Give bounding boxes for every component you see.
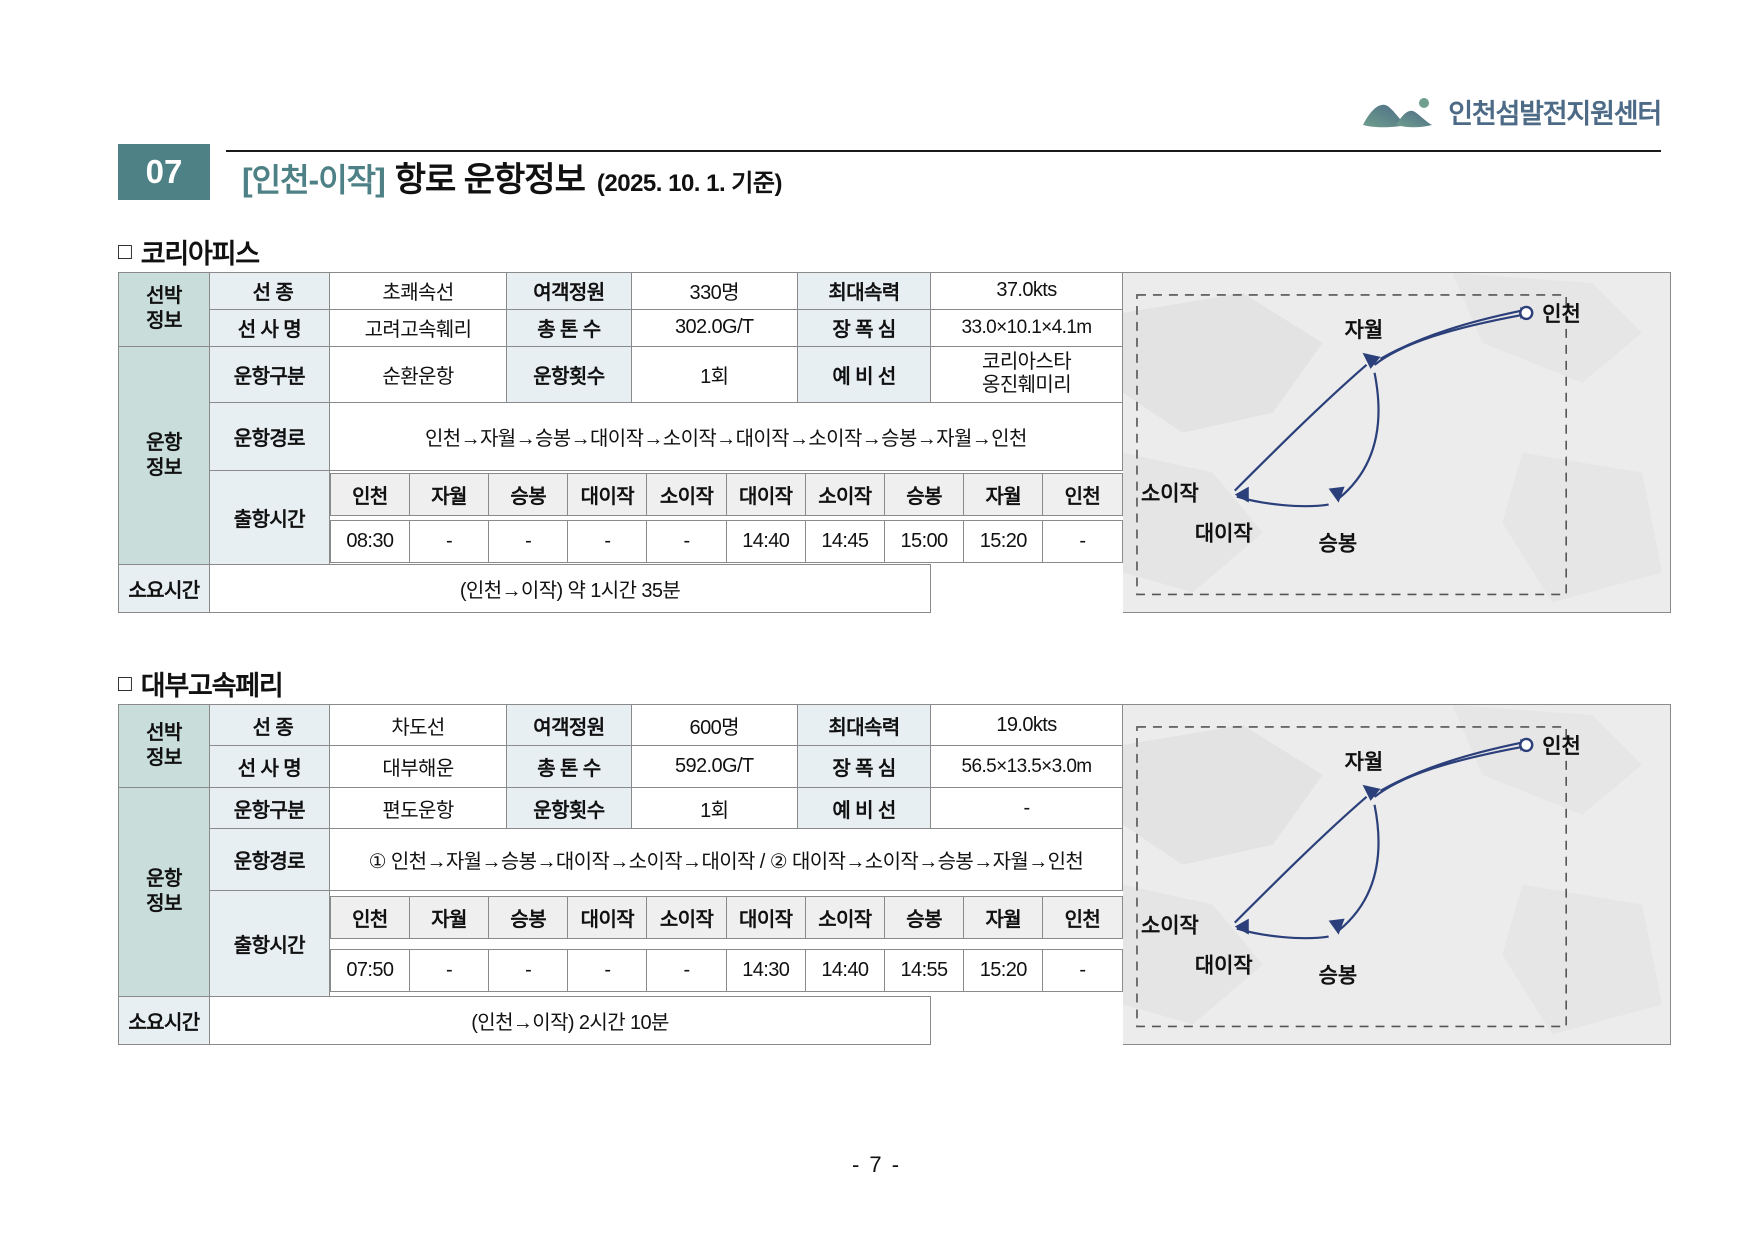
ops-info-side-label: 운항정보 <box>119 787 210 997</box>
tonnage-value: 592.0G/T <box>631 746 797 787</box>
reserve-ship-line1: 코리아스타 <box>982 351 1071 373</box>
map-label-incheon: 인천 <box>1542 303 1581 326</box>
ship-type-label: 선 종 <box>209 705 329 746</box>
schedule-port-header: 인천 <box>330 473 409 515</box>
schedule-port-header: 인천 <box>1043 473 1122 515</box>
schedule-departure-time: 08:30 <box>330 520 409 562</box>
table-row: 운항정보 운항구분 편도운항 운항횟수 1회 예 비 선 - <box>119 787 1123 828</box>
ops-type-label: 운항구분 <box>209 787 329 828</box>
section-heading-koreapeace: □ 코리아피스 <box>118 232 259 271</box>
schedule-port-header: 대이작 <box>726 473 805 515</box>
schedule-port-header: 승봉 <box>884 897 963 939</box>
duration-value: (인천→이작) 약 1시간 35분 <box>209 565 930 613</box>
page-number: - 7 - <box>0 1152 1753 1178</box>
capacity-label: 여객정원 <box>507 705 631 746</box>
capacity-value: 600명 <box>631 705 797 746</box>
company-label: 선 사 명 <box>209 309 329 346</box>
table-row: 운항경로 인천→자월→승봉→대이작→소이작→대이작→소이작→승봉→자월→인천 <box>119 403 1123 471</box>
mountain-wave-icon <box>1362 95 1436 129</box>
schedule-port-header: 자월 <box>964 473 1043 515</box>
reserve-ship-value: 코리아스타 옹진훼미리 <box>931 346 1123 403</box>
page-title: [인천-이작] 항로 운항정보 (2025. 10. 1. 기준) <box>242 152 782 201</box>
max-speed-label: 최대속력 <box>797 273 930 310</box>
operator-block-daebu: 선박정보 선 종 차도선 여객정원 600명 최대속력 19.0kts 선 사 … <box>118 704 1671 1045</box>
schedule-port-header: 소이작 <box>647 473 726 515</box>
ops-count-value: 1회 <box>631 346 797 403</box>
dimensions-value: 56.5×13.5×3.0m <box>931 746 1123 787</box>
route-path-label: 운항경로 <box>209 829 329 891</box>
schedule-departure-time: 14:40 <box>726 520 805 562</box>
route-map-daebu: 인천 자월 소이작 대이작 승봉 <box>1123 704 1671 1045</box>
schedule-port-header: 자월 <box>409 473 488 515</box>
schedule-times-row: 08:30----14:4014:4515:0015:20- <box>330 520 1122 562</box>
max-speed-label: 최대속력 <box>797 705 930 746</box>
reserve-ship-label: 예 비 선 <box>797 787 930 828</box>
table-row: 선 사 명 대부해운 총 톤 수 592.0G/T 장 폭 심 56.5×13.… <box>119 746 1123 787</box>
schedule-departure-time: - <box>1043 949 1122 991</box>
map-label-daeijak: 대이작 <box>1195 523 1253 546</box>
reserve-ship-value: - <box>931 787 1123 828</box>
departure-time-label: 출항시간 <box>209 891 329 997</box>
departure-time-label: 출항시간 <box>209 471 329 565</box>
table-row: 선박정보 선 종 초쾌속선 여객정원 330명 최대속력 37.0kts <box>119 273 1123 310</box>
company-value: 고려고속훼리 <box>329 309 507 346</box>
route-map-svg: 인천 자월 소이작 대이작 승봉 <box>1123 705 1670 1044</box>
duration-value: (인천→이작) 2시간 10분 <box>209 997 930 1045</box>
schedule-departure-time: 07:50 <box>330 949 409 991</box>
table-row: 선박정보 선 종 차도선 여객정원 600명 최대속력 19.0kts <box>119 705 1123 746</box>
ops-type-label: 운항구분 <box>209 346 329 403</box>
schedule-departure-time: 15:20 <box>964 949 1043 991</box>
reserve-ship-label: 예 비 선 <box>797 346 930 403</box>
schedule-departure-time: 15:20 <box>964 520 1043 562</box>
ship-type-value: 초쾌속선 <box>329 273 507 310</box>
schedule-port-header: 자월 <box>964 897 1043 939</box>
schedule-ports-row: 인천자월승봉대이작소이작대이작소이작승봉자월인천 <box>330 897 1122 939</box>
ops-count-label: 운항횟수 <box>507 346 631 403</box>
table-row: 소요시간 (인천→이작) 약 1시간 35분 <box>119 565 1123 613</box>
dimensions-value: 33.0×10.1×4.1m <box>931 309 1123 346</box>
page-title-bar: 07 [인천-이작] 항로 운항정보 (2025. 10. 1. 기준) <box>118 150 1661 200</box>
brand-logo: 인천섬발전지원센터 <box>1362 92 1661 131</box>
section-number-badge: 07 <box>118 144 210 200</box>
schedule-departure-time: - <box>489 949 568 991</box>
schedule-port-header: 자월 <box>409 897 488 939</box>
ops-count-value: 1회 <box>631 787 797 828</box>
max-speed-value: 37.0kts <box>931 273 1123 310</box>
port-marker-incheon <box>1520 307 1532 319</box>
schedule-departure-time: - <box>647 520 726 562</box>
schedule-departure-time: - <box>489 520 568 562</box>
schedule-port-header: 소이작 <box>805 897 884 939</box>
duration-label: 소요시간 <box>119 997 210 1045</box>
schedule-port-header: 대이작 <box>568 897 647 939</box>
schedule-departure-time: - <box>568 520 647 562</box>
schedule-header-table: 인천자월승봉대이작소이작대이작소이작승봉자월인천 <box>330 896 1123 939</box>
schedule-departure-time: - <box>409 949 488 991</box>
ship-type-label: 선 종 <box>209 273 329 310</box>
schedule-header-row: 인천자월승봉대이작소이작대이작소이작승봉자월인천 <box>330 473 1123 516</box>
table-row: 선 사 명 고려고속훼리 총 톤 수 302.0G/T 장 폭 심 33.0×1… <box>119 309 1123 346</box>
duration-label: 소요시간 <box>119 565 210 613</box>
table-row: 운항정보 운항구분 순환운항 운항횟수 1회 예 비 선 코리아스타 옹진훼미리 <box>119 346 1123 403</box>
schedule-departure-time: 14:45 <box>805 520 884 562</box>
operator-block-koreapeace: 선박정보 선 종 초쾌속선 여객정원 330명 최대속력 37.0kts 선 사… <box>118 272 1671 613</box>
schedule-times-table: 08:30----14:4014:4515:0015:20- <box>330 520 1123 563</box>
map-label-jawol: 자월 <box>1345 751 1384 774</box>
map-label-daeijak: 대이작 <box>1195 955 1253 978</box>
port-marker-incheon <box>1520 739 1532 751</box>
schedule-port-header: 인천 <box>1043 897 1122 939</box>
schedule-departure-time: - <box>647 949 726 991</box>
company-value: 대부해운 <box>329 746 507 787</box>
section-heading-daebu: □ 대부고속페리 <box>118 664 283 703</box>
schedule-port-header: 승봉 <box>884 473 963 515</box>
section-heading-label: 대부고속페리 <box>141 664 283 703</box>
ops-type-value: 순환운항 <box>329 346 507 403</box>
route-path-value: 인천→자월→승봉→대이작→소이작→대이작→소이작→승봉→자월→인천 <box>329 403 1122 471</box>
dimensions-label: 장 폭 심 <box>797 746 930 787</box>
info-table-daebu: 선박정보 선 종 차도선 여객정원 600명 최대속력 19.0kts 선 사 … <box>118 704 1123 1045</box>
title-route-label: [인천-이작] <box>242 155 385 201</box>
table-row: 운항경로 ① 인천→자월→승봉→대이작→소이작→대이작 / ② 대이작→소이작→… <box>119 829 1123 891</box>
map-label-incheon: 인천 <box>1542 735 1581 758</box>
schedule-port-header: 승봉 <box>489 473 568 515</box>
schedule-departure-time: 14:30 <box>726 949 805 991</box>
schedule-port-header: 승봉 <box>489 897 568 939</box>
map-label-jawol: 자월 <box>1345 319 1384 342</box>
table-row: 출항시간 인천자월승봉대이작소이작대이작소이작승봉자월인천 <box>119 891 1123 944</box>
title-date-label: (2025. 10. 1. 기준) <box>597 163 782 198</box>
map-label-soijak: 소이작 <box>1141 915 1199 938</box>
tonnage-label: 총 톤 수 <box>507 309 631 346</box>
ship-info-side-label: 선박정보 <box>119 705 210 788</box>
bullet-square-icon: □ <box>118 238 131 265</box>
schedule-port-header: 대이작 <box>568 473 647 515</box>
route-path-label: 운항경로 <box>209 403 329 471</box>
ops-type-value: 편도운항 <box>329 787 507 828</box>
route-map-svg: 인천 자월 소이작 대이작 승봉 <box>1123 273 1670 612</box>
ops-count-label: 운항횟수 <box>507 787 631 828</box>
tonnage-label: 총 톤 수 <box>507 746 631 787</box>
tonnage-value: 302.0G/T <box>631 309 797 346</box>
schedule-departure-time: 14:55 <box>884 949 963 991</box>
route-map-koreapeace: 인천 자월 소이작 대이작 승봉 <box>1123 272 1671 613</box>
schedule-port-header: 인천 <box>330 897 409 939</box>
map-label-seungbong: 승봉 <box>1319 532 1358 555</box>
reserve-ship-line2: 옹진훼미리 <box>982 374 1071 396</box>
section-heading-label: 코리아피스 <box>141 232 259 271</box>
brand-name: 인천섬발전지원센터 <box>1448 92 1661 131</box>
map-label-soijak: 소이작 <box>1141 483 1199 506</box>
schedule-departure-time: - <box>409 520 488 562</box>
max-speed-value: 19.0kts <box>931 705 1123 746</box>
dimensions-label: 장 폭 심 <box>797 309 930 346</box>
schedule-departure-time: - <box>1043 520 1122 562</box>
ops-info-side-label: 운항정보 <box>119 346 210 565</box>
title-main-label: 항로 운항정보 <box>395 152 585 201</box>
ship-info-side-label: 선박정보 <box>119 273 210 347</box>
info-table-koreapeace: 선박정보 선 종 초쾌속선 여객정원 330명 최대속력 37.0kts 선 사… <box>118 272 1123 613</box>
bullet-square-icon: □ <box>118 670 131 697</box>
schedule-departure-time: 14:40 <box>805 949 884 991</box>
capacity-label: 여객정원 <box>507 273 631 310</box>
table-row: 출항시간 인천자월승봉대이작소이작대이작소이작승봉자월인천 <box>119 471 1123 518</box>
schedule-port-header: 대이작 <box>726 897 805 939</box>
schedule-port-header: 소이작 <box>805 473 884 515</box>
schedule-port-header: 소이작 <box>647 897 726 939</box>
table-row: 소요시간 (인천→이작) 2시간 10분 <box>119 997 1123 1045</box>
map-label-seungbong: 승봉 <box>1319 964 1358 987</box>
capacity-value: 330명 <box>631 273 797 310</box>
schedule-ports-row: 인천자월승봉대이작소이작대이작소이작승봉자월인천 <box>330 473 1122 515</box>
ship-type-value: 차도선 <box>329 705 507 746</box>
schedule-departure-time: - <box>568 949 647 991</box>
company-label: 선 사 명 <box>209 746 329 787</box>
schedule-times-row: 07:50----14:3014:4014:5515:20- <box>330 949 1122 991</box>
route-path-value: ① 인천→자월→승봉→대이작→소이작→대이작 / ② 대이작→소이작→승봉→자월… <box>329 829 1122 891</box>
schedule-departure-time: 15:00 <box>884 520 963 562</box>
schedule-times-table: 07:50----14:3014:4014:5515:20- <box>330 949 1123 992</box>
